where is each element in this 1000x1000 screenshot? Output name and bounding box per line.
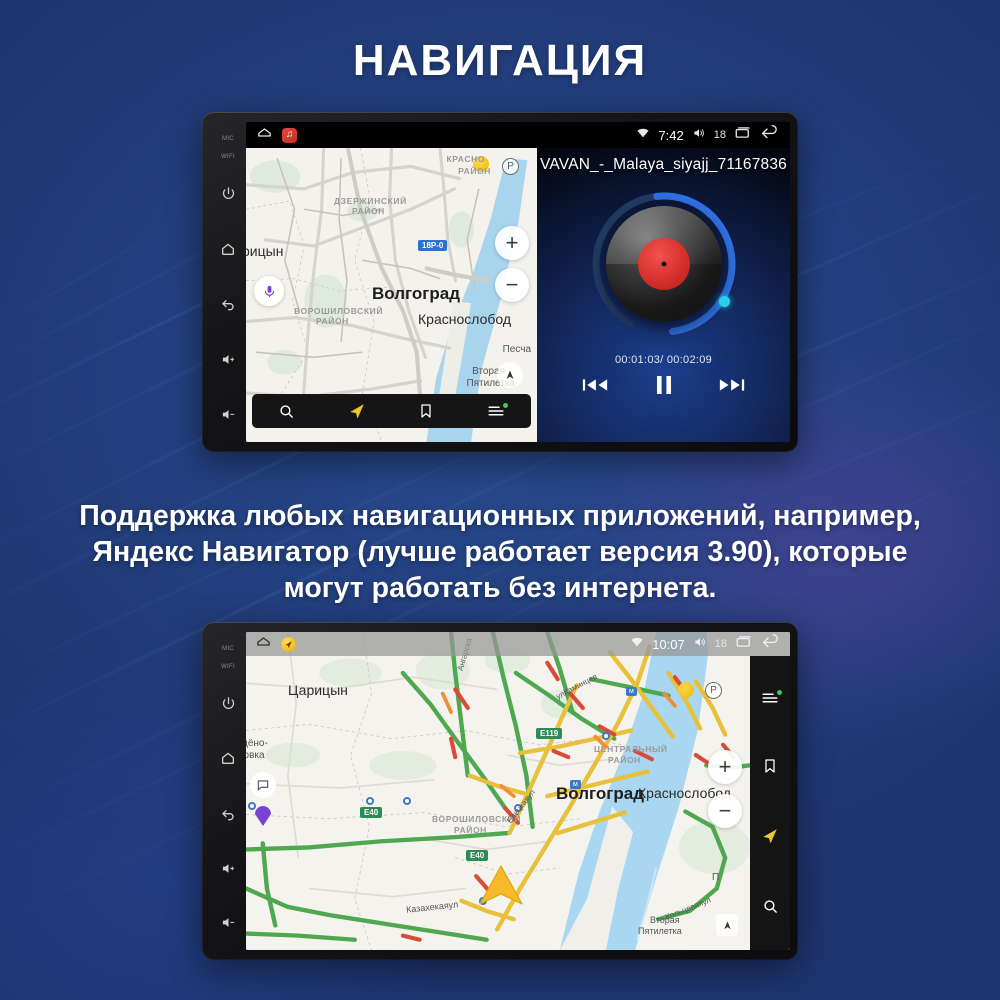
map-bottom-nav bbox=[252, 394, 531, 428]
navigator-app-icon[interactable] bbox=[281, 637, 296, 652]
map-label-city: Волгоград bbox=[372, 284, 460, 304]
volume-up-button[interactable] bbox=[210, 332, 246, 387]
map-label-voroshilovsky: ВОРОШИЛОВСКИЙ bbox=[294, 306, 383, 316]
status-bar: 10:07 18 bbox=[246, 632, 790, 656]
map-label-p: П bbox=[712, 872, 719, 883]
home-button[interactable] bbox=[210, 730, 246, 785]
mic-led-label: MIC bbox=[222, 640, 234, 658]
previous-track-button[interactable] bbox=[582, 375, 608, 395]
music-player-panel[interactable]: VAVAN_-_Malaya_siyajj_71167836 00:01:03/… bbox=[537, 122, 790, 442]
home-icon[interactable] bbox=[256, 124, 273, 146]
map-label-krasnoslobod: Краснослобод bbox=[418, 311, 511, 327]
back-button[interactable] bbox=[210, 277, 246, 333]
map-menu-badge bbox=[503, 403, 508, 408]
back-button[interactable] bbox=[210, 786, 246, 841]
map-current-position-arrow bbox=[478, 864, 524, 911]
map-zoom-out-button[interactable]: − bbox=[495, 268, 529, 302]
head-unit-device-bottom: MIC WIFI bbox=[202, 622, 798, 960]
recents-icon[interactable] bbox=[735, 634, 753, 655]
map-navigate-icon[interactable] bbox=[761, 827, 779, 845]
volume-down-button[interactable] bbox=[210, 896, 246, 950]
map-panel[interactable]: P КРАСНО РАЙОН ДЗЕРЖИНСКИЙ РАЙОН рицын В… bbox=[246, 148, 537, 442]
status-time: 7:42 bbox=[658, 128, 683, 143]
map-label-tsaritsyn: рицын bbox=[246, 243, 283, 259]
map-poi-yellow[interactable] bbox=[678, 682, 694, 698]
map-road-shield-e119: E119 bbox=[536, 728, 562, 739]
track-title: VAVAN_-_Malaya_siyajj_71167836 bbox=[537, 156, 790, 174]
play-pause-button[interactable] bbox=[654, 374, 674, 396]
volume-level: 18 bbox=[715, 638, 727, 650]
status-bar: ♫ 7:42 18 bbox=[246, 122, 790, 148]
map-label-central: ЦЕНТРАЛЬНЫЙ bbox=[594, 744, 668, 754]
map-road-shield-e40-1: E40 bbox=[360, 807, 382, 818]
vinyl-label bbox=[638, 238, 690, 290]
map-menu-badge bbox=[777, 690, 782, 695]
page-title: НАВИГАЦИЯ bbox=[0, 36, 1000, 86]
page-caption: Поддержка любых навигационных приложений… bbox=[55, 498, 945, 606]
map-menu-icon[interactable] bbox=[761, 691, 779, 705]
map-marker-pin-purple bbox=[252, 802, 274, 828]
map-zoom-in-button[interactable]: + bbox=[495, 226, 529, 260]
volume-level: 18 bbox=[714, 129, 726, 141]
device-screen-top: ♫ 7:42 18 bbox=[246, 122, 790, 442]
map-compass-icon[interactable] bbox=[716, 914, 738, 936]
map-search-icon[interactable] bbox=[762, 898, 779, 915]
map-label-krasno: КРАСНО bbox=[447, 154, 486, 164]
back-icon[interactable] bbox=[761, 634, 781, 655]
next-track-button[interactable] bbox=[719, 375, 745, 395]
map-label-rayon-1: РАЙОН bbox=[458, 166, 491, 176]
player-controls bbox=[537, 374, 790, 396]
map-zoom-in-button[interactable]: + bbox=[708, 750, 742, 784]
map-label-pyatiletka: Пятилетка bbox=[638, 926, 682, 936]
map-menu-icon[interactable] bbox=[487, 404, 505, 418]
home-button[interactable] bbox=[210, 221, 246, 277]
head-unit-device-top: MIC WIFI ♫ bbox=[202, 112, 798, 452]
wifi-icon bbox=[636, 126, 650, 145]
map-label-deno: дёно- bbox=[246, 738, 268, 749]
map-road-shield-e40-2: E40 bbox=[466, 850, 488, 861]
map-navigate-icon[interactable] bbox=[348, 402, 366, 420]
map-zoom-out-button[interactable]: − bbox=[708, 794, 742, 828]
vinyl-record bbox=[606, 206, 722, 322]
map-label-rayon-1: РАЙОН bbox=[454, 825, 487, 835]
map-label-novka: новка bbox=[246, 750, 265, 761]
map-zoom-controls: + − bbox=[708, 750, 742, 828]
map-marker-circle-2 bbox=[403, 797, 411, 805]
hardware-button-rail: MIC WIFI bbox=[210, 122, 246, 442]
device-screen-bottom: м м P E40 E119 E40 Царицын дёно- нов bbox=[246, 632, 790, 950]
map-microphone-button[interactable] bbox=[254, 276, 284, 306]
map-label-peschan: Песча bbox=[503, 344, 531, 355]
recents-icon[interactable] bbox=[734, 125, 752, 146]
map-side-toolbar bbox=[750, 656, 790, 950]
map-zoom-controls: + − bbox=[495, 226, 529, 302]
progress-handle[interactable] bbox=[719, 296, 730, 307]
track-timecode: 00:01:03/ 00:02:09 bbox=[537, 354, 790, 366]
map-label-dzerzhinsky: ДЗЕРЖИНСКИЙ bbox=[334, 196, 407, 206]
hardware-button-rail: MIC WIFI bbox=[210, 632, 246, 950]
map-label-rayon-2: РАЙОН bbox=[608, 755, 641, 765]
map-bookmarks-icon[interactable] bbox=[418, 403, 434, 419]
map-marker-circle-5 bbox=[602, 732, 610, 740]
map-metro-shield-1: м bbox=[626, 687, 637, 696]
status-time: 10:07 bbox=[652, 637, 685, 652]
home-icon[interactable] bbox=[255, 633, 272, 655]
power-button[interactable] bbox=[210, 166, 246, 221]
map-label-vtoraya: Вторая bbox=[650, 915, 680, 925]
wifi-icon bbox=[630, 635, 644, 654]
map-label-tsaritsyn: Царицын bbox=[288, 682, 348, 698]
wifi-led-label: WIFI bbox=[221, 658, 235, 676]
map-poi-parking[interactable]: P bbox=[705, 682, 722, 699]
mic-led-label: MIC bbox=[222, 130, 234, 148]
map-label-rayon-3: РАЙОН bbox=[316, 316, 349, 326]
album-art-wrapper bbox=[588, 188, 740, 340]
power-button[interactable] bbox=[210, 676, 246, 730]
volume-icon bbox=[693, 635, 707, 654]
map-message-bubble-icon[interactable] bbox=[250, 772, 276, 798]
volume-down-button[interactable] bbox=[210, 387, 246, 442]
back-icon[interactable] bbox=[760, 125, 780, 146]
map-road-shield: 18Р-0 bbox=[418, 240, 447, 251]
volume-icon bbox=[692, 126, 706, 145]
map-panel-traffic[interactable]: м м P E40 E119 E40 Царицын дёно- нов bbox=[246, 632, 790, 950]
volume-up-button[interactable] bbox=[210, 841, 246, 895]
map-bookmarks-icon[interactable] bbox=[762, 758, 778, 774]
wifi-led-label: WIFI bbox=[221, 148, 235, 166]
music-app-icon[interactable]: ♫ bbox=[282, 128, 297, 143]
map-search-icon[interactable] bbox=[278, 403, 295, 420]
map-label-city: Волгоград bbox=[556, 784, 644, 804]
map-poi-parking[interactable]: P bbox=[502, 158, 519, 175]
map-compass-icon[interactable] bbox=[497, 362, 523, 388]
map-marker-circle-1 bbox=[366, 797, 374, 805]
map-label-rayon-2: РАЙОН bbox=[352, 206, 385, 216]
